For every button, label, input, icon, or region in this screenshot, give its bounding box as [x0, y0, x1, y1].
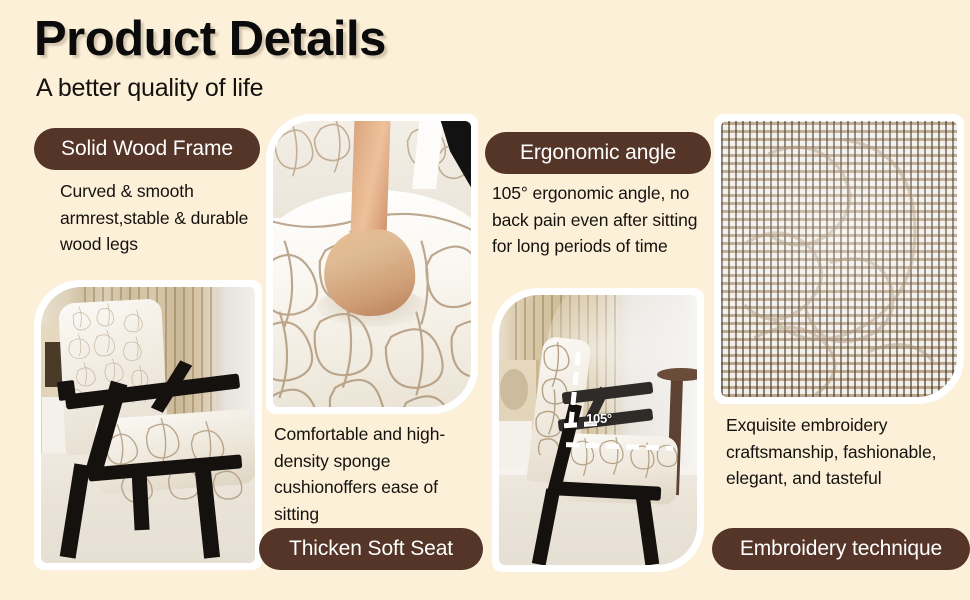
- photo-embroidery-technique: [714, 114, 964, 404]
- shelf-white-panel-2: [499, 421, 532, 469]
- pill-thicken-soft-seat: Thicken Soft Seat: [259, 528, 483, 570]
- photo-thicken-soft-seat: [266, 114, 478, 414]
- shelf-opening-2: [500, 369, 528, 410]
- desc-embroidery-technique: Exquisite embroidery craftsmanship, fash…: [726, 412, 962, 492]
- photo-solid-wood-frame-inner: [41, 287, 255, 563]
- photo-thicken-soft-seat-inner: [273, 121, 471, 407]
- infographic-root: Product Details A better quality of life…: [0, 0, 970, 600]
- angle-annotation-label: 105°: [586, 411, 612, 426]
- desc-thicken-soft-seat: Comfortable and high-density sponge cush…: [274, 421, 484, 527]
- desc-solid-wood-frame: Curved & smooth armrest,stable & durable…: [60, 178, 266, 258]
- middle-leg: [131, 469, 149, 530]
- chair-seat-cushion: [94, 409, 255, 494]
- photo-ergonomic-angle: 105°: [492, 288, 704, 572]
- pill-embroidery-technique: Embroidery technique: [712, 528, 970, 570]
- photo-ergonomic-angle-inner: 105°: [499, 295, 697, 565]
- armrest-end-cap: [57, 380, 76, 401]
- photo-solid-wood-frame: [34, 280, 262, 570]
- fabric-sheen: [721, 121, 957, 397]
- pill-ergonomic-angle: Ergonomic angle: [485, 132, 711, 174]
- photo-embroidery-technique-inner: [721, 121, 957, 397]
- pill-solid-wood-frame: Solid Wood Frame: [34, 128, 260, 170]
- page-subtitle: A better quality of life: [36, 74, 263, 103]
- page-title: Product Details: [34, 14, 386, 66]
- desc-ergonomic-angle: 105° ergonomic angle, no back pain even …: [492, 180, 710, 260]
